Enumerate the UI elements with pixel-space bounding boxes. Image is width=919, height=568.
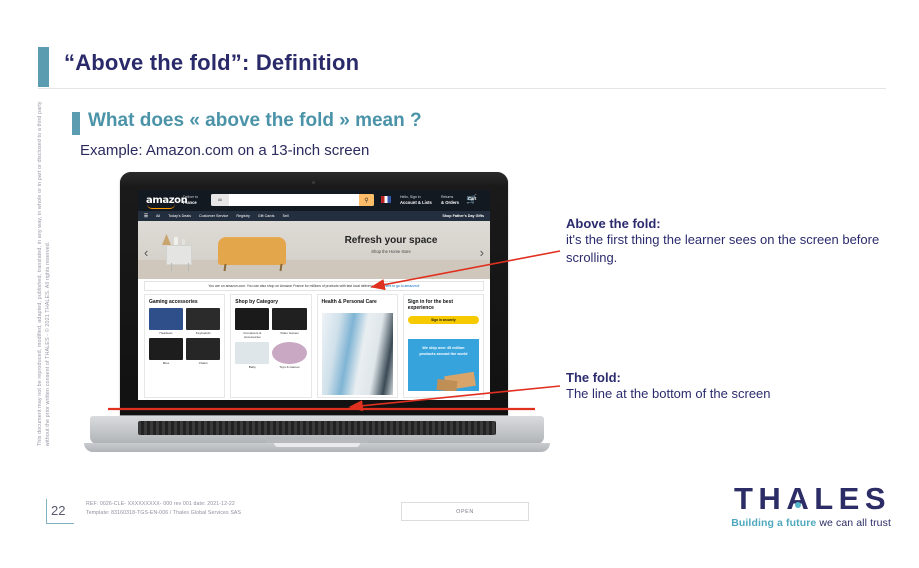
account-lists-label: Account & Lists — [400, 200, 432, 206]
laptop-keyboard — [138, 421, 496, 435]
tile-label: Mice — [149, 361, 183, 365]
fr-flag-icon[interactable] — [381, 196, 391, 203]
card-title: Sign in for the best experience — [408, 299, 479, 312]
tile-image — [272, 308, 306, 330]
tagline-rest: we can all trust — [816, 517, 891, 529]
laptop-mockup: amazon Deliver to France All ⚲ Hello, Si… — [78, 172, 556, 460]
nav-item-2[interactable]: Registry — [236, 214, 250, 218]
returns-label: Returns — [441, 195, 453, 199]
tile-label: Chairs — [186, 361, 220, 365]
tile-label: Computers & Accessories — [235, 331, 269, 339]
amazon-nav-bar: ☰ All Today's Deals Customer Service Reg… — [138, 211, 490, 221]
thales-logo: THALES Building a future we can all trus… — [731, 483, 891, 529]
nav-item-3[interactable]: Gift Cards — [258, 214, 275, 218]
hero-side-table — [166, 245, 192, 265]
thales-wordmark-text: THALES — [734, 481, 891, 516]
hero-text-group: Refresh your space Shop the Home store — [316, 235, 466, 254]
hero-table-leg-right — [188, 263, 189, 271]
hero-decor-object — [162, 234, 171, 245]
deliver-to-selector[interactable]: Deliver to France — [183, 195, 198, 207]
nav-item-1[interactable]: Customer Service — [199, 214, 228, 218]
page-title: “Above the fold”: Definition — [64, 50, 359, 76]
laptop-front-notch — [274, 443, 360, 447]
parcel-icon-secondary — [436, 379, 457, 391]
tile-image — [235, 308, 269, 330]
account-greeting: Hello, Sign in — [400, 195, 421, 199]
tile-image — [149, 308, 183, 330]
card-row: Gaming accessories Headsets Keyboards — [144, 294, 484, 398]
tile-image — [235, 342, 269, 364]
title-divider — [38, 88, 886, 89]
tile-label: Baby — [235, 365, 269, 369]
sign-in-button[interactable]: Sign in securely — [408, 316, 479, 324]
classification-label: OPEN — [456, 509, 474, 515]
tile-image — [272, 342, 306, 364]
search-category-select[interactable]: All — [211, 194, 229, 206]
hero-title: Refresh your space — [316, 235, 466, 246]
annotation-body: The line at the bottom of the screen — [566, 385, 896, 403]
nav-promo-link[interactable]: Shop Father's Day Gifts — [442, 214, 484, 218]
card-sign-in[interactable]: Sign in for the best experience Sign in … — [403, 294, 484, 398]
shipping-promo-text: We ship over 45 million products around … — [416, 346, 470, 357]
locale-notice-strip: You are on amazon.com. You can also shop… — [144, 281, 484, 291]
tile-label: Toys & Games — [272, 365, 306, 369]
card-health-personal-care[interactable]: Health & Personal Care — [317, 294, 398, 398]
locale-notice-link[interactable]: Click here to go to amazon.fr — [376, 284, 419, 288]
shipping-promo-banner[interactable]: We ship over 45 million products around … — [408, 339, 479, 391]
amazon-header: amazon Deliver to France All ⚲ Hello, Si… — [138, 190, 490, 211]
card-shop-by-category[interactable]: Shop by Category Computers & Accessories… — [230, 294, 311, 398]
card-image — [322, 313, 393, 395]
page-number: 22 — [51, 503, 65, 518]
chevron-left-icon[interactable]: ‹ — [144, 245, 148, 260]
card-tile[interactable]: Computers & Accessories — [235, 308, 269, 339]
card-title: Health & Personal Care — [322, 299, 393, 305]
hero-vase — [174, 237, 178, 245]
reference-line-1: REF: 0026-CLE- XXXXXXXXX- 000 rev 001 da… — [86, 500, 241, 509]
chevron-right-icon[interactable]: › — [480, 245, 484, 260]
card-tile[interactable]: Keyboards — [186, 308, 220, 335]
nav-item-all[interactable]: All — [156, 214, 160, 218]
title-accent-bar — [38, 47, 49, 87]
card-title: Gaming accessories — [149, 299, 220, 305]
card-tile[interactable]: Video Games — [272, 308, 306, 339]
search-icon[interactable]: ⚲ — [359, 194, 374, 206]
hamburger-menu-icon[interactable]: ☰ — [144, 213, 148, 219]
annotation-body: it's the first thing the learner sees on… — [566, 231, 896, 268]
webcam-icon — [312, 181, 315, 184]
thales-dot-icon — [795, 502, 801, 508]
card-tile-grid: Computers & Accessories Video Games Baby — [235, 308, 306, 369]
vertical-copyright-notice: This document may not be reproduced, mod… — [36, 86, 52, 446]
annotation-above-the-fold: Above the fold: it's the first thing the… — [566, 216, 896, 268]
card-tile-grid: Headsets Keyboards Mice Chairs — [149, 308, 220, 365]
hero-banner: ‹ › Refresh your space Shop the Home sto… — [138, 221, 490, 279]
annotation-heading: Above the fold: — [566, 216, 896, 231]
tile-image — [186, 308, 220, 330]
example-caption: Example: Amazon.com on a 13-inch screen — [80, 142, 369, 159]
laptop-screen: amazon Deliver to France All ⚲ Hello, Si… — [138, 190, 490, 400]
section-subtitle: What does « above the fold » mean ? — [88, 110, 422, 132]
deliver-to-label: Deliver to — [183, 195, 198, 199]
hero-vase-small — [182, 239, 185, 245]
card-tile[interactable]: Chairs — [186, 338, 220, 365]
card-tile[interactable]: Baby — [235, 342, 269, 369]
reference-line-2: Template: 83160318-TGS-EN-006 / Thales G… — [86, 509, 241, 518]
subtitle-accent-bar — [72, 112, 80, 135]
document-reference: REF: 0026-CLE- XXXXXXXXX- 000 rev 001 da… — [86, 500, 241, 518]
card-title: Shop by Category — [235, 299, 306, 305]
tagline-highlight: Building a future — [731, 517, 816, 529]
card-tile[interactable]: Toys & Games — [272, 342, 306, 369]
card-tile[interactable]: Mice — [149, 338, 183, 365]
tile-image — [149, 338, 183, 360]
slide-canvas: “Above the fold”: Definition What does «… — [0, 0, 919, 568]
tile-label: Video Games — [272, 331, 306, 335]
tile-label: Keyboards — [186, 331, 220, 335]
card-gaming-accessories[interactable]: Gaming accessories Headsets Keyboards — [144, 294, 225, 398]
cart-label[interactable]: Cart — [468, 196, 476, 201]
tile-label: Headsets — [149, 331, 183, 335]
card-tile[interactable]: Headsets — [149, 308, 183, 335]
account-menu[interactable]: Hello, Sign in Account & Lists — [400, 195, 432, 207]
thales-tagline: Building a future we can all trust — [731, 517, 891, 529]
returns-orders-menu[interactable]: Returns & Orders — [441, 195, 459, 207]
thales-wordmark: THALES — [734, 483, 891, 514]
hero-sofa — [218, 238, 286, 265]
annotation-heading: The fold: — [566, 370, 896, 385]
locale-notice-text: You are on amazon.com. You can also shop… — [208, 284, 373, 288]
nav-item-0[interactable]: Today's Deals — [168, 214, 191, 218]
classification-box: OPEN — [401, 502, 529, 521]
nav-item-4[interactable]: Sell — [282, 214, 288, 218]
orders-label: & Orders — [441, 200, 459, 206]
deliver-to-value: France — [183, 200, 198, 206]
hero-table-leg-left — [171, 263, 172, 271]
annotation-the-fold: The fold: The line at the bottom of the … — [566, 370, 896, 403]
amazon-smile-icon — [147, 204, 175, 209]
hero-subtitle: Shop the Home store — [316, 249, 466, 254]
tile-image — [186, 338, 220, 360]
search-bar[interactable]: All ⚲ — [211, 194, 374, 206]
